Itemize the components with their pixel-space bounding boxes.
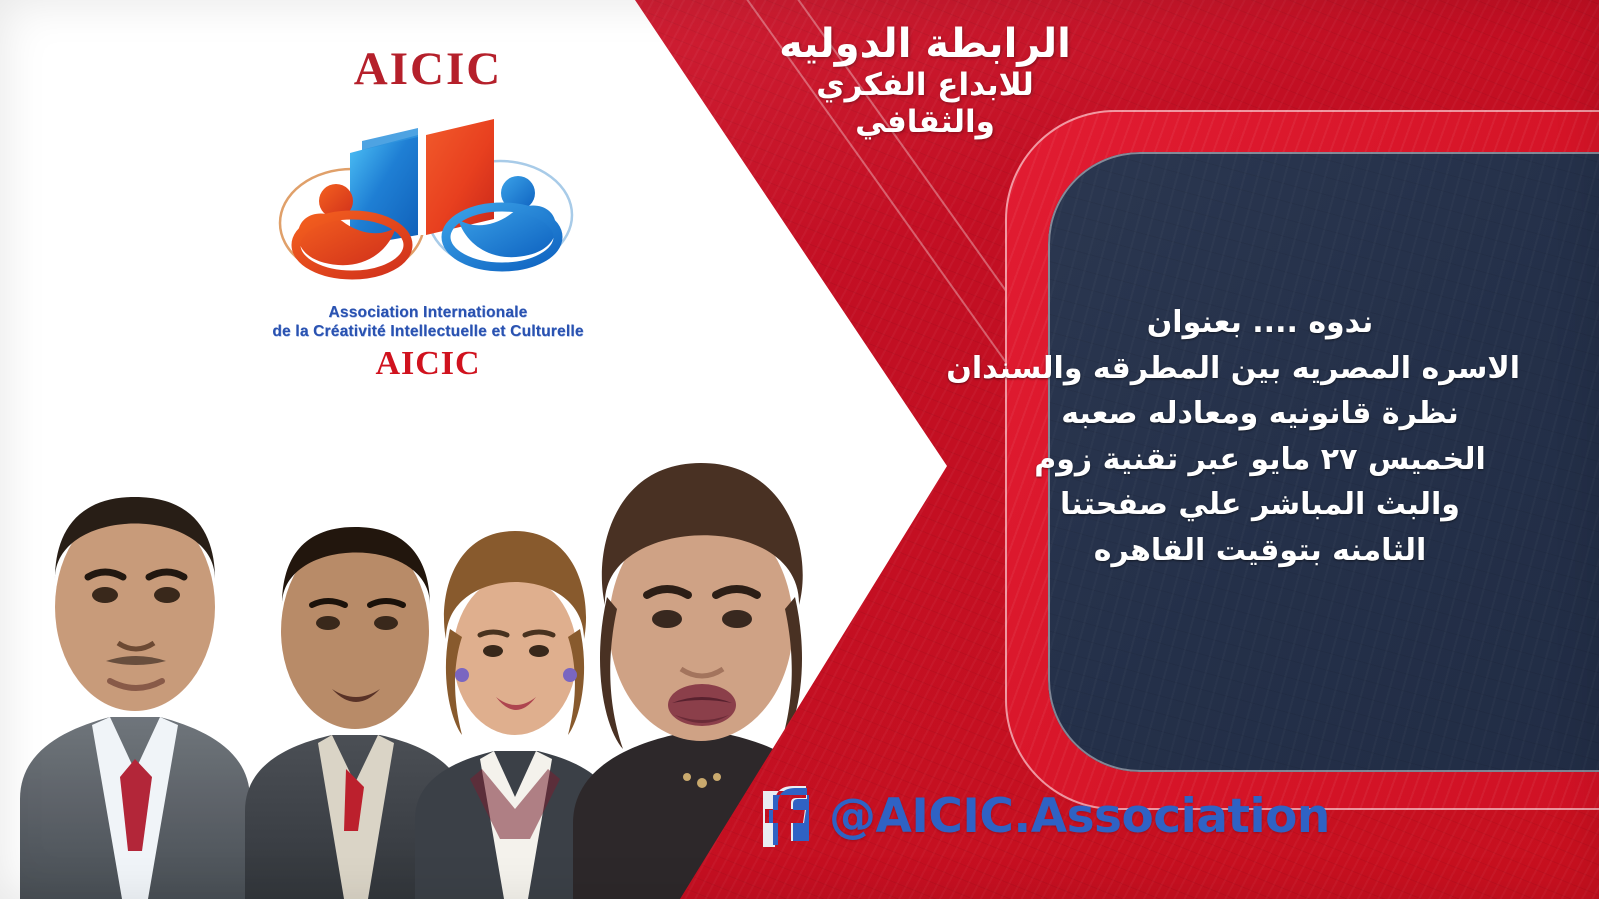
- event-details: ندوه .... بعنوان الاسره المصريه بين المط…: [1000, 300, 1520, 574]
- portrait-1: [10, 399, 260, 899]
- aicic-logo: AICIC: [228, 46, 628, 396]
- facebook-icon[interactable]: [757, 785, 813, 847]
- logo-emblem-icon: [278, 95, 578, 300]
- event-line-4: الخميس ٢٧ مايو عبر تقنية زوم: [1000, 437, 1520, 483]
- event-line-2: الاسره المصريه بين المطرقه والسندان: [1000, 346, 1520, 392]
- logo-caption-line-2: de la Créativité Intellectuelle et Cultu…: [228, 323, 628, 342]
- organization-title: الرابطة الدوليه للابداع الفكري والثقافي: [760, 22, 1090, 141]
- logo-acronym-bottom: AICIC: [228, 345, 628, 382]
- event-line-3: نظرة قانونيه ومعادله صعبه: [1000, 391, 1520, 437]
- logo-caption-line-1: Association Internationale: [228, 304, 628, 323]
- org-title-line-3: والثقافي: [760, 104, 1090, 141]
- event-line-1: ندوه .... بعنوان: [1000, 300, 1520, 346]
- logo-caption: Association Internationale de la Créativ…: [228, 304, 628, 342]
- logo-acronym-top: AICIC: [228, 46, 628, 93]
- facebook-handle[interactable]: @AICIC.Association: [829, 789, 1330, 844]
- event-line-6: الثامنه بتوقيت القاهره: [1000, 528, 1520, 574]
- event-line-5: والبث المباشر علي صفحتنا: [1000, 482, 1520, 528]
- org-title-line-2: للابداع الفكري: [760, 67, 1090, 104]
- org-title-line-1: الرابطة الدوليه: [760, 22, 1090, 67]
- poster-canvas: AICIC: [0, 0, 1599, 899]
- facebook-link[interactable]: @AICIC.Association: [757, 780, 1330, 852]
